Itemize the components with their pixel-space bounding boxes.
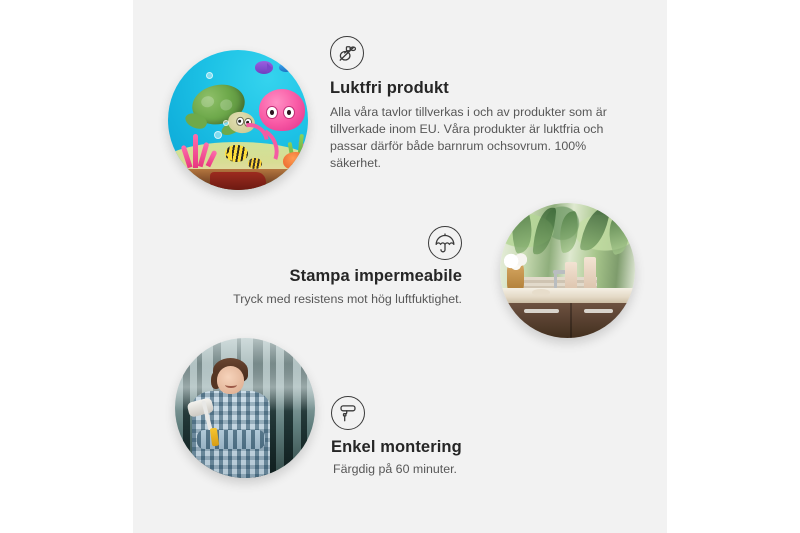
woman-with-roller-image — [175, 338, 315, 478]
paint-roller-icon — [331, 396, 365, 430]
feature-odourless: Luktfri produkt Alla våra tavlor tillver… — [330, 36, 630, 172]
candle — [565, 262, 577, 290]
octopus-head — [259, 89, 305, 131]
blue-fish — [279, 63, 293, 73]
countertop — [500, 288, 635, 303]
smile — [225, 381, 236, 387]
shipwreck — [210, 172, 266, 190]
no-odour-icon — [330, 36, 364, 70]
product-feature-graphic: Luktfri produkt Alla våra tavlor tillver… — [0, 0, 800, 533]
small-fish — [248, 158, 262, 169]
bathroom-interior-image — [500, 203, 635, 338]
folded-arms — [197, 430, 264, 448]
feature-assembly: Enkel montering Färgdig på 60 minuter. — [331, 396, 581, 478]
octopus-eye — [266, 106, 278, 119]
vanity-seam — [570, 303, 572, 338]
wallpaper-leaf — [579, 204, 610, 253]
wallpaper-leaf — [533, 206, 557, 255]
coral — [182, 131, 217, 167]
white-flowers — [503, 252, 530, 271]
feature-title: Stampa impermeabile — [162, 267, 462, 286]
bubble — [223, 120, 229, 126]
feature-title: Luktfri produkt — [330, 79, 630, 98]
candle — [584, 257, 596, 291]
crab — [283, 152, 308, 170]
feature-title: Enkel montering — [331, 438, 581, 457]
wooden-vanity — [500, 303, 635, 338]
purple-fish — [255, 61, 273, 74]
umbrella-icon — [428, 226, 462, 260]
feature-description: Tryck med resistens mot hög luftfuktighe… — [162, 291, 462, 308]
wallpaper-leaf — [557, 211, 583, 254]
feature-description: Färgdig på 60 minuter. — [331, 461, 581, 478]
feature-description: Alla våra tavlor tillverkas i och av pro… — [330, 104, 630, 172]
face — [217, 366, 244, 394]
underwater-cartoon-image — [168, 50, 308, 190]
octopus-eye — [283, 106, 295, 119]
feature-waterproof: Stampa impermeabile Tryck med resistens … — [162, 226, 462, 308]
yellow-striped-fish — [225, 145, 247, 162]
